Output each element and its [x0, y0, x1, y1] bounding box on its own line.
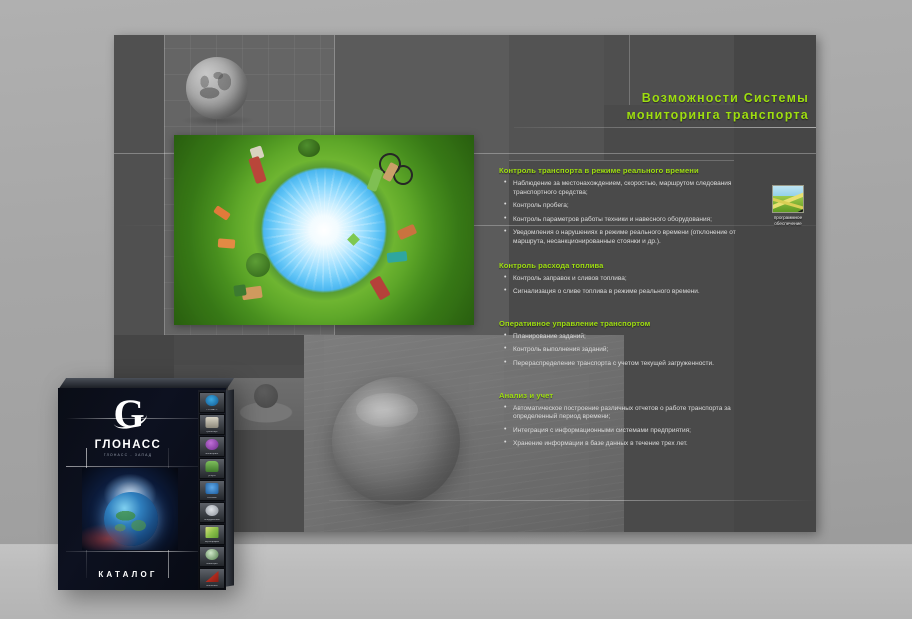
strip-item-map[interactable]: картография	[199, 524, 225, 545]
bullet-item: Контроль пробега;	[499, 202, 769, 211]
glass-sphere-icon	[332, 377, 460, 505]
strip-item-label: ГЛОНАСС	[200, 409, 224, 412]
section-heading: Оперативное управление транспортом	[499, 319, 769, 328]
bullet-item: Перераспределение транспорта с учетом те…	[499, 360, 769, 369]
strip-item-truck[interactable]: транспорт	[199, 414, 225, 435]
desktop-shortcut-software[interactable]: программное обеспечение	[763, 182, 813, 234]
catalog-label-bar: КАТАЛОГ	[58, 564, 198, 582]
slide-title-line-1: Возможности Системы	[519, 90, 809, 107]
bullet-item: Уведомления о нарушениях в режиме реальн…	[499, 229, 769, 246]
map-icon	[206, 527, 219, 538]
grapes-icon	[206, 439, 219, 450]
glonass-logo: G ГЛОНАСС ГЛОНАСС - ЗАПАД	[58, 396, 198, 457]
truck-icon	[206, 417, 219, 428]
guide-rule-h4	[509, 160, 734, 161]
bullet-item: Контроль выполнения заданий;	[499, 346, 769, 355]
strip-item-label: системы	[200, 497, 224, 500]
guide-rule-v3	[164, 35, 165, 335]
section-bullets: Контроль заправок и сливов топлива; Сигн…	[499, 275, 769, 297]
strip-item-globe[interactable]: навигация	[199, 546, 225, 567]
picture-shortcut-icon[interactable]	[772, 185, 804, 213]
content-section: Анализ и учет Автоматическое построение …	[499, 391, 769, 449]
strip-item-label: транспорт	[200, 431, 224, 434]
section-heading: Контроль транспорта в режиме реального в…	[499, 166, 769, 175]
person-figure	[218, 238, 236, 248]
tree-icon	[246, 253, 270, 277]
book-spine	[226, 389, 234, 586]
little-planet-photo	[174, 135, 474, 325]
tree-icon	[298, 139, 320, 157]
content-section: Оперативное управление транспортом Плани…	[499, 319, 769, 369]
strip-item-label: мониторинг	[200, 453, 224, 456]
strip-item-grapes[interactable]: мониторинг	[199, 436, 225, 457]
hands-holding-globe-photo	[228, 378, 304, 430]
catalog-book[interactable]: G ГЛОНАСС ГЛОНАСС - ЗАПАД КАТАЛОГ	[58, 378, 226, 590]
guide-rule-h3	[329, 500, 816, 501]
earth-from-space-photo	[82, 468, 178, 550]
desktop-stage: Возможности Системы мониторинга транспор…	[0, 0, 912, 619]
person-figure	[233, 284, 246, 297]
strip-item-label: аналитика	[200, 585, 224, 588]
strip-item-label: оборудование	[200, 519, 224, 522]
globe-icon	[206, 549, 219, 560]
strip-item-gears[interactable]: оборудование	[199, 502, 225, 523]
section-bullets: Наблюдение за местонахождением, скорость…	[499, 180, 769, 247]
grey-globe-icon	[186, 57, 248, 119]
strip-item-hand[interactable]: услуги	[199, 458, 225, 479]
network-icon	[206, 483, 219, 494]
slide-content: Контроль транспорта в режиме реального в…	[499, 166, 769, 463]
glonass-g-icon: G	[111, 396, 145, 432]
bullet-item: Интеграция с информационными системами п…	[499, 427, 769, 436]
bullet-item: Сигнализация о сливе топлива в режиме ре…	[499, 288, 769, 297]
bullet-item: Планирование заданий;	[499, 333, 769, 342]
brand-subtitle: ГЛОНАСС - ЗАПАД	[58, 453, 198, 457]
title-underline	[514, 127, 816, 128]
book-body: G ГЛОНАСС ГЛОНАСС - ЗАПАД КАТАЛОГ	[58, 388, 226, 590]
bullet-item: Автоматическое построение различных отче…	[499, 405, 769, 422]
bullet-item: Хранение информации в базе данных в тече…	[499, 440, 769, 449]
section-bullets: Автоматическое построение различных отче…	[499, 405, 769, 449]
red-chart-icon	[206, 571, 219, 582]
strip-item-label: картография	[200, 541, 224, 544]
slide-panel-a	[114, 35, 164, 335]
catalog-label: КАТАЛОГ	[98, 570, 157, 579]
strip-item-label: навигация	[200, 563, 224, 566]
book-icon-strip: ГЛОНАСС транспорт мониторинг услуги сист…	[198, 390, 226, 590]
hand-icon	[206, 461, 219, 472]
sun-rays	[174, 135, 474, 325]
brand-name: ГЛОНАСС	[58, 439, 198, 451]
content-section: Контроль расхода топлива Контроль заправ…	[499, 261, 769, 297]
section-bullets: Планирование заданий; Контроль выполнени…	[499, 333, 769, 369]
strip-item-glonass-logo[interactable]: ГЛОНАСС	[199, 392, 225, 413]
book-cover: G ГЛОНАСС ГЛОНАСС - ЗАПАД КАТАЛОГ	[58, 388, 198, 590]
glonass-logo-icon	[206, 395, 219, 406]
strip-item-label: услуги	[200, 475, 224, 478]
bullet-item: Контроль параметров работы техники и нав…	[499, 216, 769, 225]
person-figure	[387, 251, 408, 263]
strip-item-network[interactable]: системы	[199, 480, 225, 501]
gears-icon	[206, 505, 219, 516]
red-atmosphere-glow	[82, 524, 138, 550]
slide-title-line-2: мониторинга транспорта	[519, 107, 809, 124]
section-heading: Анализ и учет	[499, 391, 769, 400]
slide-title: Возможности Системы мониторинга транспор…	[519, 90, 809, 124]
section-heading: Контроль расхода топлива	[499, 261, 769, 270]
strip-item-red-chart[interactable]: аналитика	[199, 568, 225, 589]
desktop-shortcut-label: программное обеспечение	[763, 215, 813, 226]
bullet-item: Наблюдение за местонахождением, скорость…	[499, 180, 769, 197]
content-section: Контроль транспорта в режиме реального в…	[499, 166, 769, 247]
bullet-item: Контроль заправок и сливов топлива;	[499, 275, 769, 284]
